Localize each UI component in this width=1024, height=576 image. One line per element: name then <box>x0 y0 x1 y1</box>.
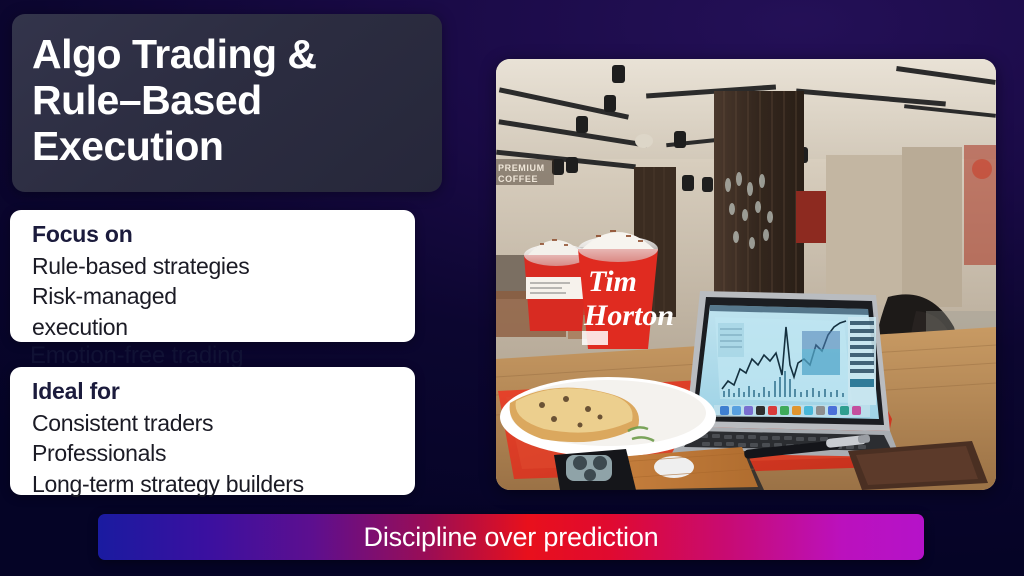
title-card: Algo Trading & Rule–Based Execution <box>12 14 442 192</box>
photo-illustration: PREMIUM COFFEE <box>496 59 996 490</box>
page-title: Algo Trading & Rule–Based Execution <box>32 32 422 170</box>
svg-text:Tim: Tim <box>588 265 637 298</box>
focus-on-item-3: execution <box>32 312 415 343</box>
focus-on-card: Focus on Rule-based strategies Risk-mana… <box>10 210 415 342</box>
ideal-for-heading: Ideal for <box>32 377 415 407</box>
ideal-for-item-1: Consistent traders <box>32 408 415 439</box>
footer-tagline-text: Discipline over prediction <box>364 524 659 551</box>
ideal-for-item-2: Professionals <box>32 438 415 469</box>
footer-tagline-banner: Discipline over prediction <box>98 514 924 560</box>
ideal-for-item-3: Long-term strategy builders <box>32 469 415 500</box>
svg-text:PREMIUM: PREMIUM <box>498 163 545 173</box>
svg-text:Horton: Horton <box>583 299 674 332</box>
ideal-for-card: Ideal for Consistent traders Professiona… <box>10 367 415 495</box>
focus-on-heading: Focus on <box>32 220 415 250</box>
ideal-for-card-content: Ideal for Consistent traders Professiona… <box>10 367 415 500</box>
cafe-workspace-photo: PREMIUM COFFEE <box>496 59 996 490</box>
slide-canvas: Algo Trading & Rule–Based Execution Emot… <box>0 0 1024 576</box>
focus-on-item-2: Risk-managed <box>32 281 415 312</box>
focus-on-item-1: Rule-based strategies <box>32 251 415 282</box>
focus-on-card-content: Focus on Rule-based strategies Risk-mana… <box>10 210 415 343</box>
svg-text:COFFEE: COFFEE <box>498 174 538 184</box>
